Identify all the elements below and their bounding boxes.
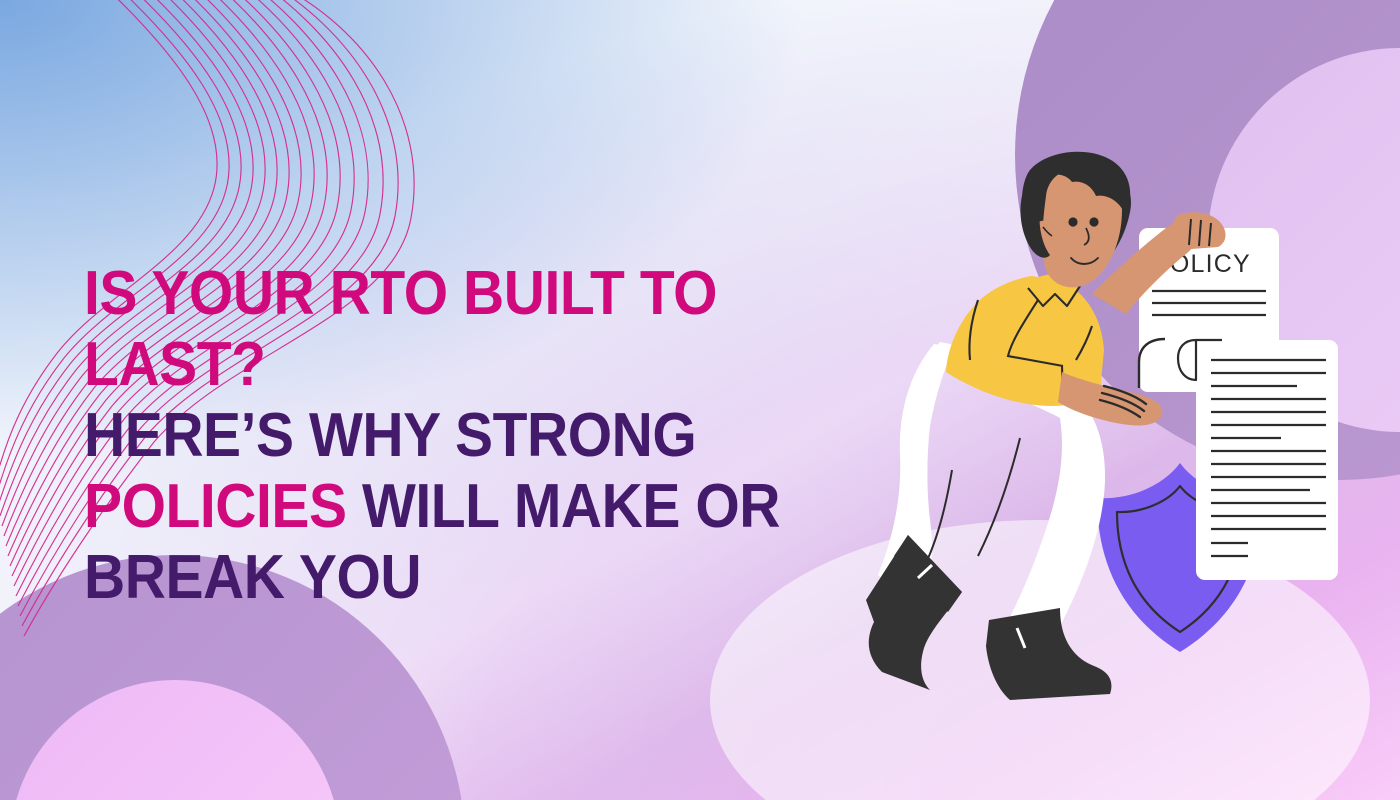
boot-left [866,535,962,690]
headline-line-2: LAST? [84,329,811,400]
headline-line-1: IS YOUR RTO BUILT TO [84,258,811,329]
headline-line-3: HERE’S WHY STRONG [84,400,811,471]
policy-document-front [1178,340,1338,580]
headline-block: IS YOUR RTO BUILT TO LAST? HERE’S WHY ST… [84,258,874,613]
eye-right [1089,217,1098,226]
headline-accent-policies: POLICIES [84,472,347,541]
boot-right [986,608,1111,700]
promotional-banner: POLICY [0,0,1400,800]
headline-line-5: BREAK YOU [84,542,811,613]
headline-line-4: POLICIES WILL MAKE OR [84,471,811,542]
person-head [1020,152,1131,288]
eye-left [1068,217,1077,226]
headline-line-4-rest: WILL MAKE OR [347,472,780,541]
